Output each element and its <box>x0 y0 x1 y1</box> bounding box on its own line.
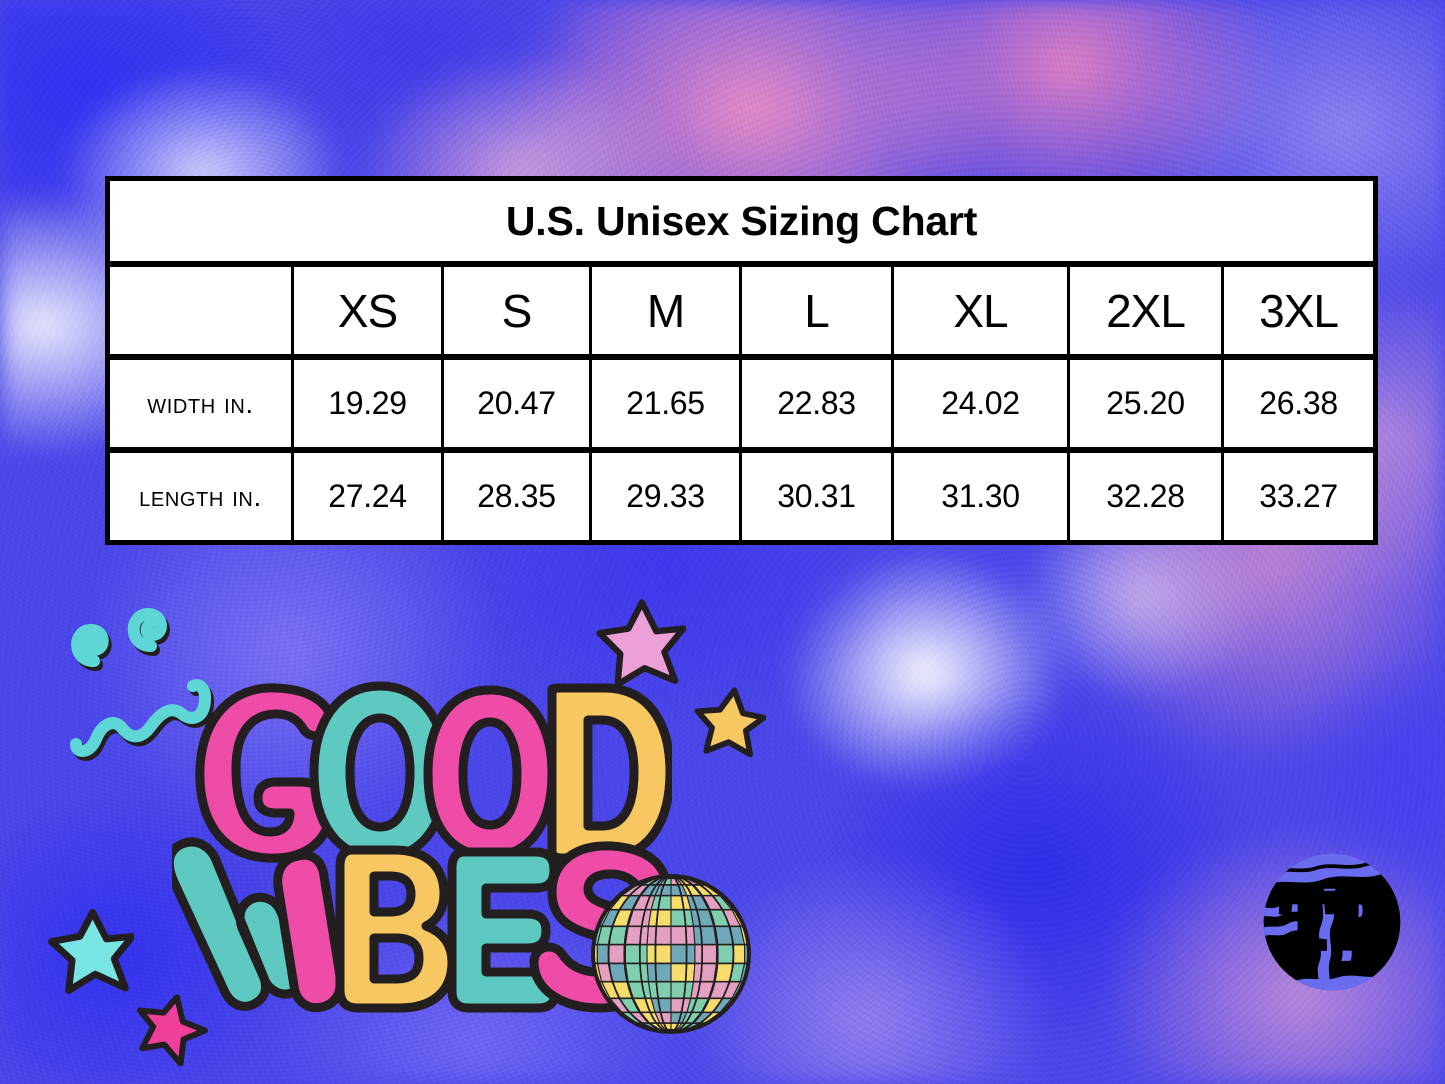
squiggle-decoration-icon <box>58 604 248 764</box>
brand-logo-tp: TP <box>1258 848 1406 996</box>
column-header-xs: XS <box>293 264 443 357</box>
table-row: Length In. 27.24 28.35 29.33 30.31 31.30… <box>108 450 1376 543</box>
column-header-3xl: 3XL <box>1223 264 1376 357</box>
column-header-2xl: 2XL <box>1069 264 1223 357</box>
length-value-m: 29.33 <box>591 450 741 543</box>
table-title-row: U.S. Unisex Sizing Chart <box>108 179 1376 265</box>
length-value-l: 30.31 <box>741 450 893 543</box>
svg-text:TP: TP <box>1282 877 1381 963</box>
poster-canvas: U.S. Unisex Sizing Chart XS S M L XL 2XL… <box>0 0 1445 1084</box>
sizing-chart: U.S. Unisex Sizing Chart XS S M L XL 2XL… <box>105 176 1373 531</box>
width-value-xl: 24.02 <box>893 357 1069 450</box>
star-icon-magenta <box>134 992 208 1066</box>
table-header-row: XS S M L XL 2XL 3XL <box>108 264 1376 357</box>
width-value-3xl: 26.38 <box>1223 357 1376 450</box>
length-value-xs: 27.24 <box>293 450 443 543</box>
width-value-2xl: 25.20 <box>1069 357 1223 450</box>
length-value-s: 28.35 <box>443 450 591 543</box>
width-value-s: 20.47 <box>443 357 591 450</box>
column-header-xl: XL <box>893 264 1069 357</box>
star-icon-pink <box>596 598 686 688</box>
row-label-length: Length In. <box>108 450 293 543</box>
length-value-xl: 31.30 <box>893 450 1069 543</box>
width-value-l: 22.83 <box>741 357 893 450</box>
star-icon-yellow <box>694 686 766 758</box>
good-vibes-headline-art <box>172 660 672 1020</box>
column-header-m: M <box>591 264 741 357</box>
row-label-width: Width In. <box>108 357 293 450</box>
table-row: Width In. 19.29 20.47 21.65 22.83 24.02 … <box>108 357 1376 450</box>
logo-monogram: TP <box>1282 877 1381 963</box>
width-value-m: 21.65 <box>591 357 741 450</box>
sizing-chart-table: U.S. Unisex Sizing Chart XS S M L XL 2XL… <box>105 176 1378 545</box>
header-corner-cell <box>108 264 293 357</box>
column-header-l: L <box>741 264 893 357</box>
length-value-2xl: 32.28 <box>1069 450 1223 543</box>
page-title: U.S. Unisex Sizing Chart <box>108 179 1376 265</box>
width-value-xs: 19.29 <box>293 357 443 450</box>
length-value-3xl: 33.27 <box>1223 450 1376 543</box>
disco-ball-icon <box>585 868 757 1040</box>
column-header-s: S <box>443 264 591 357</box>
star-icon-cyan <box>48 908 134 994</box>
